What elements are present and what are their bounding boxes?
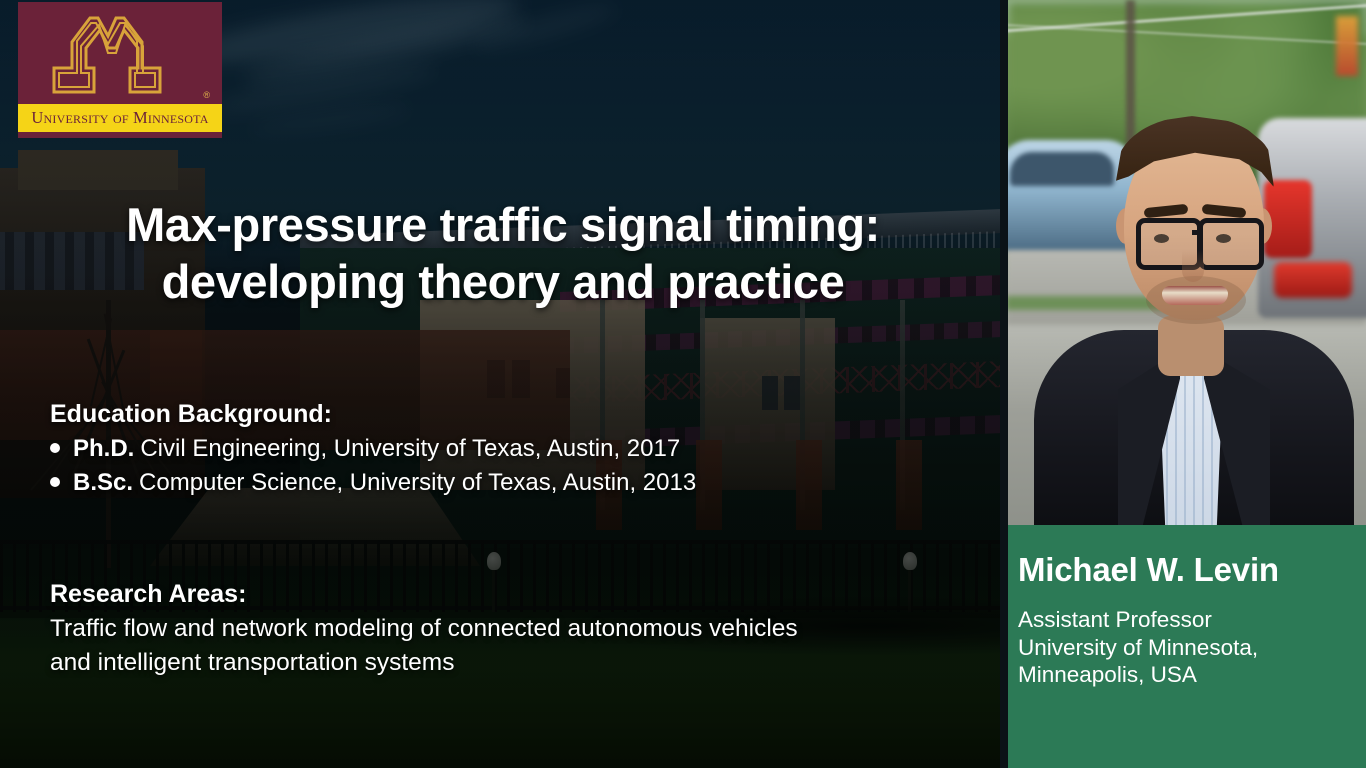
university-logo: ® University of Minnesota [18,2,222,138]
presenter-job-title: Assistant Professor [1018,606,1366,634]
bullet-icon [50,443,60,453]
photo-banner [1336,16,1358,76]
education-list: Ph.D. Civil Engineering, University of T… [50,432,696,500]
photo-car-taillight [1274,262,1352,298]
photo-neck [1158,316,1224,376]
glasses-bridge [1192,230,1200,235]
panel-divider [1000,0,1008,768]
education-list-item: B.Sc. Computer Science, University of Te… [50,466,696,500]
title-slide: ® University of Minnesota Max-pressure t… [0,0,1366,768]
slide-title: Max-pressure traffic signal timing: deve… [28,196,978,310]
research-line-1: Traffic flow and network modeling of con… [50,612,980,646]
education-section: Education Background: Ph.D. Civil Engine… [50,398,696,500]
registered-trademark-icon: ® [203,90,210,100]
logo-wordmark-band: University of Minnesota [18,104,222,132]
education-heading: Education Background: [50,398,696,430]
presenter-photo [1006,0,1366,525]
research-line-2: and intelligent transportation systems [50,646,980,680]
research-body: Traffic flow and network modeling of con… [50,612,980,680]
education-list-item: Ph.D. Civil Engineering, University of T… [50,432,696,466]
slide-title-line-1: Max-pressure traffic signal timing: [28,196,978,253]
presenter-panel: Michael W. Levin Assistant Professor Uni… [1006,0,1366,768]
education-detail: Computer Science, University of Texas, A… [139,466,696,500]
presenter-affiliation-line-2: Minneapolis, USA [1018,661,1366,689]
bullet-icon [50,477,60,487]
photo-blue-car-window [1010,152,1114,186]
presenter-name: Michael W. Levin [1006,551,1366,589]
education-degree: B.Sc. [73,466,133,500]
presenter-affiliation-line-1: University of Minnesota, [1018,634,1366,662]
photo-nose [1182,250,1204,282]
block-m-icon [46,8,194,100]
presenter-info-panel: Michael W. Levin Assistant Professor Uni… [1006,525,1366,768]
research-section: Research Areas: Traffic flow and network… [50,578,980,680]
logo-wordmark-text: University of Minnesota [31,108,208,128]
education-detail: Civil Engineering, University of Texas, … [140,432,680,466]
slide-title-line-2: developing theory and practice [28,253,978,310]
glasses-icon [1198,218,1264,270]
education-degree: Ph.D. [73,432,134,466]
photo-mouth [1162,286,1228,305]
photo-utility-pole [1126,0,1135,150]
presenter-affiliation: Assistant Professor University of Minnes… [1006,606,1366,689]
research-heading: Research Areas: [50,578,980,610]
